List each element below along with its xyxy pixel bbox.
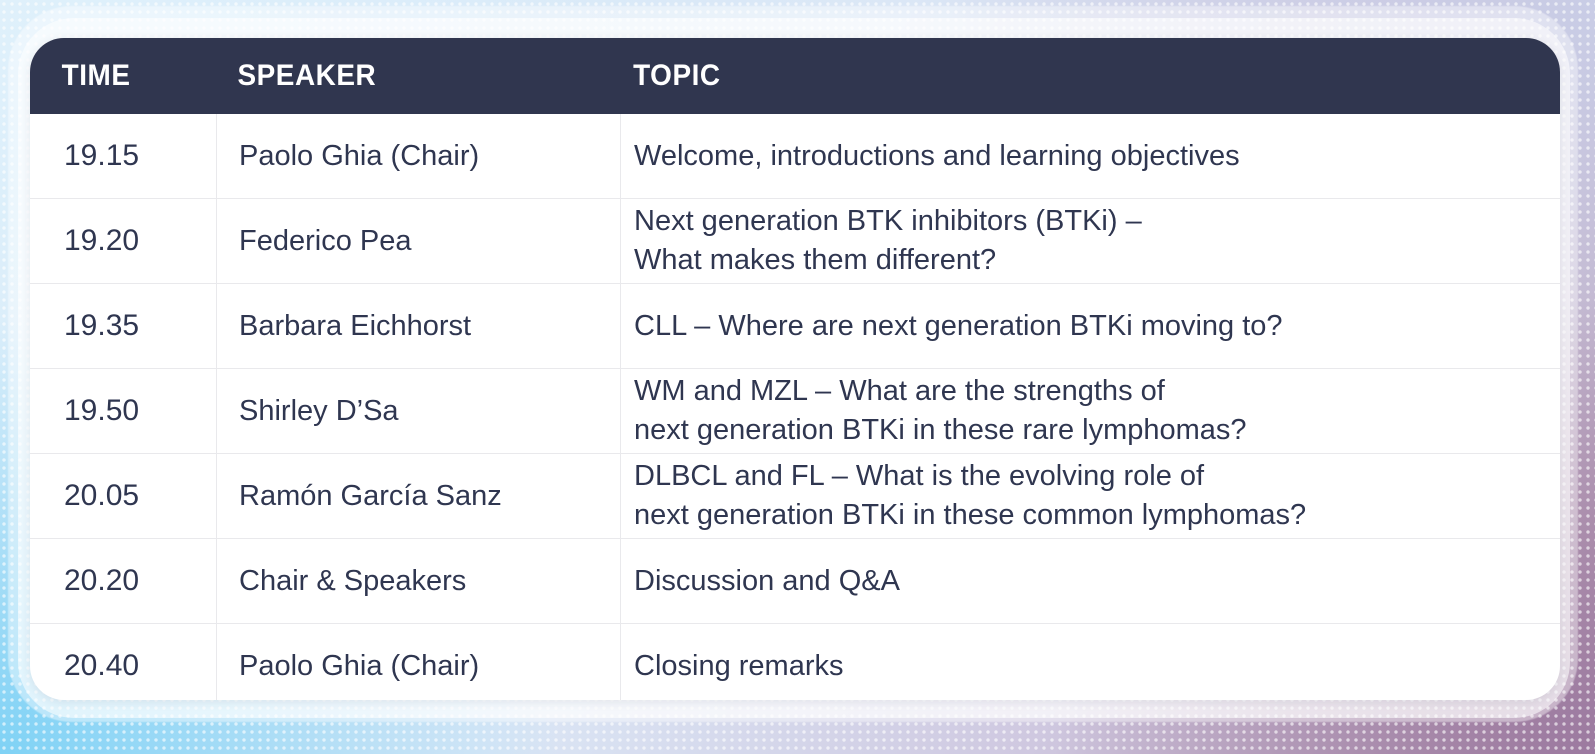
table-header-row: TIME SPEAKER TOPIC	[30, 38, 1560, 114]
table-row: 20.40 Paolo Ghia (Chair) Closing remarks	[30, 624, 1560, 700]
topic-line: Closing remarks	[634, 647, 1546, 686]
cell-time: 20.20	[30, 539, 217, 623]
agenda-table-card: TIME SPEAKER TOPIC 19.15 Paolo Ghia (Cha…	[30, 38, 1560, 700]
cell-speaker: Shirley D’Sa	[217, 369, 621, 453]
cell-topic: WM and MZL – What are the strengths of n…	[621, 369, 1560, 453]
cell-topic: CLL – Where are next generation BTKi mov…	[621, 284, 1560, 368]
cell-topic: Closing remarks	[621, 624, 1560, 700]
cell-speaker: Ramón García Sanz	[217, 454, 621, 538]
topic-line: What makes them different?	[634, 241, 1546, 280]
topic-line: Discussion and Q&A	[634, 562, 1546, 601]
topic-line: Welcome, introductions and learning obje…	[634, 137, 1546, 176]
topic-line: next generation BTKi in these rare lymph…	[634, 411, 1546, 450]
topic-line: WM and MZL – What are the strengths of	[634, 372, 1546, 411]
table-body: 19.15 Paolo Ghia (Chair) Welcome, introd…	[30, 114, 1560, 700]
cell-time: 19.50	[30, 369, 217, 453]
table-row: 19.35 Barbara Eichhorst CLL – Where are …	[30, 284, 1560, 369]
cell-topic: Welcome, introductions and learning obje…	[621, 114, 1560, 198]
table-row: 19.50 Shirley D’Sa WM and MZL – What are…	[30, 369, 1560, 454]
cell-speaker: Barbara Eichhorst	[217, 284, 621, 368]
column-header-time: TIME	[30, 59, 204, 93]
table-row: 19.20 Federico Pea Next generation BTK i…	[30, 199, 1560, 284]
cell-time: 20.05	[30, 454, 217, 538]
column-header-speaker: SPEAKER	[217, 59, 593, 93]
cell-time: 19.20	[30, 199, 217, 283]
cell-time: 20.40	[30, 624, 217, 700]
cell-topic: Next generation BTK inhibitors (BTKi) – …	[621, 199, 1560, 283]
table-row: 20.20 Chair & Speakers Discussion and Q&…	[30, 539, 1560, 624]
topic-line: Next generation BTK inhibitors (BTKi) –	[634, 202, 1546, 241]
table-row: 19.15 Paolo Ghia (Chair) Welcome, introd…	[30, 114, 1560, 199]
column-header-topic: TOPIC	[621, 59, 1494, 93]
topic-line: CLL – Where are next generation BTKi mov…	[634, 307, 1546, 346]
agenda-slide: TIME SPEAKER TOPIC 19.15 Paolo Ghia (Cha…	[0, 0, 1595, 754]
cell-time: 19.35	[30, 284, 217, 368]
cell-topic: DLBCL and FL – What is the evolving role…	[621, 454, 1560, 538]
topic-line: next generation BTKi in these common lym…	[634, 496, 1546, 535]
table-row: 20.05 Ramón García Sanz DLBCL and FL – W…	[30, 454, 1560, 539]
cell-speaker: Paolo Ghia (Chair)	[217, 114, 621, 198]
cell-speaker: Federico Pea	[217, 199, 621, 283]
cell-topic: Discussion and Q&A	[621, 539, 1560, 623]
cell-time: 19.15	[30, 114, 217, 198]
cell-speaker: Chair & Speakers	[217, 539, 621, 623]
cell-speaker: Paolo Ghia (Chair)	[217, 624, 621, 700]
topic-line: DLBCL and FL – What is the evolving role…	[634, 457, 1546, 496]
